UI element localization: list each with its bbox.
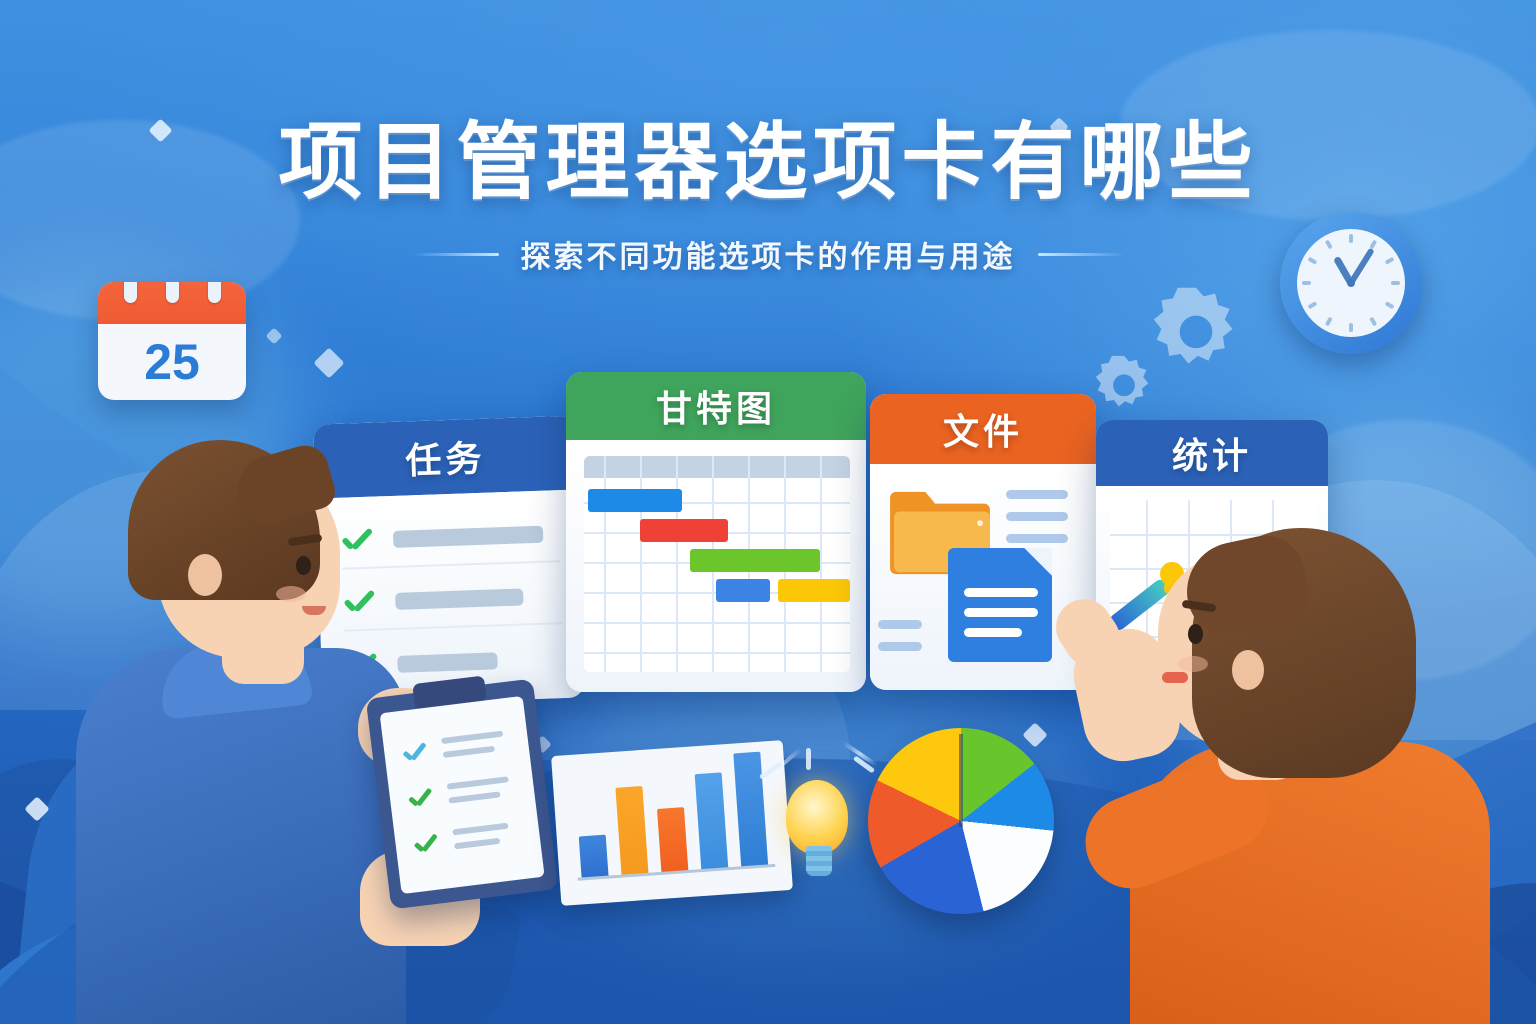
lightbulb-base [806, 846, 832, 876]
clipboard[interactable] [366, 679, 559, 910]
card-gantt-label: 甘特图 [656, 380, 776, 432]
check-icon [413, 833, 441, 855]
gantt-bar [778, 579, 850, 602]
clipboard-line [448, 791, 500, 803]
gantt-gridline-v [820, 456, 822, 672]
bar-chart-bar [695, 772, 729, 870]
person-woman [1100, 510, 1536, 1024]
clipboard-line [452, 823, 508, 836]
gantt-gridline-h [584, 622, 850, 624]
bar-chart-bar [579, 835, 609, 879]
man-eye [296, 556, 311, 575]
document-line [964, 608, 1038, 617]
gantt-header-row [584, 456, 850, 478]
clipboard-line [441, 731, 503, 745]
gantt-bar [640, 519, 728, 542]
gantt-chart [584, 456, 850, 672]
card-files-label: 文件 [943, 403, 1023, 455]
lightbulb-icon [786, 780, 848, 854]
card-stats-header: 统计 [1096, 420, 1328, 486]
clipboard-line [454, 838, 500, 850]
file-meta-line [1006, 490, 1068, 499]
gantt-bar [716, 579, 770, 602]
card-gantt[interactable]: 甘特图 [566, 372, 866, 692]
woman-ear [1232, 650, 1264, 690]
pie-slice-divider [959, 734, 963, 827]
bulb-spark [806, 748, 811, 770]
document-line [964, 588, 1038, 597]
man-ear [188, 554, 222, 596]
card-files-body [870, 464, 1096, 690]
document-fold [1024, 548, 1052, 576]
bar-chart-paper [551, 740, 793, 906]
man-cheek [276, 586, 306, 602]
card-gantt-body [566, 440, 866, 692]
gantt-gridline-h [584, 652, 850, 654]
gantt-bar [588, 489, 682, 512]
bar-chart-bar [733, 752, 768, 868]
document-icon [948, 548, 1052, 662]
bar-chart-bar [657, 807, 688, 873]
woman-mouth [1162, 672, 1188, 683]
file-meta-line [878, 620, 922, 629]
check-icon [407, 787, 435, 809]
file-meta-line [1006, 512, 1068, 521]
gantt-bar [690, 549, 820, 572]
check-icon [402, 742, 430, 764]
bar-chart-bar [615, 786, 648, 876]
clipboard-line [447, 776, 509, 790]
banner-stage: 项目管理器选项卡有哪些 探索不同功能选项卡的作用与用途 25 [0, 0, 1536, 1024]
clipboard-line [443, 746, 495, 758]
file-meta-line [1006, 534, 1068, 543]
pie-chart [868, 728, 1054, 914]
card-stats-label: 统计 [1172, 427, 1252, 479]
card-gantt-header: 甘特图 [566, 372, 866, 440]
clipboard-paper [380, 696, 545, 894]
document-line [964, 628, 1022, 637]
woman-cheek [1178, 656, 1208, 672]
file-meta-line [878, 642, 922, 651]
card-files-header: 文件 [870, 394, 1096, 464]
woman-eye [1188, 624, 1203, 644]
